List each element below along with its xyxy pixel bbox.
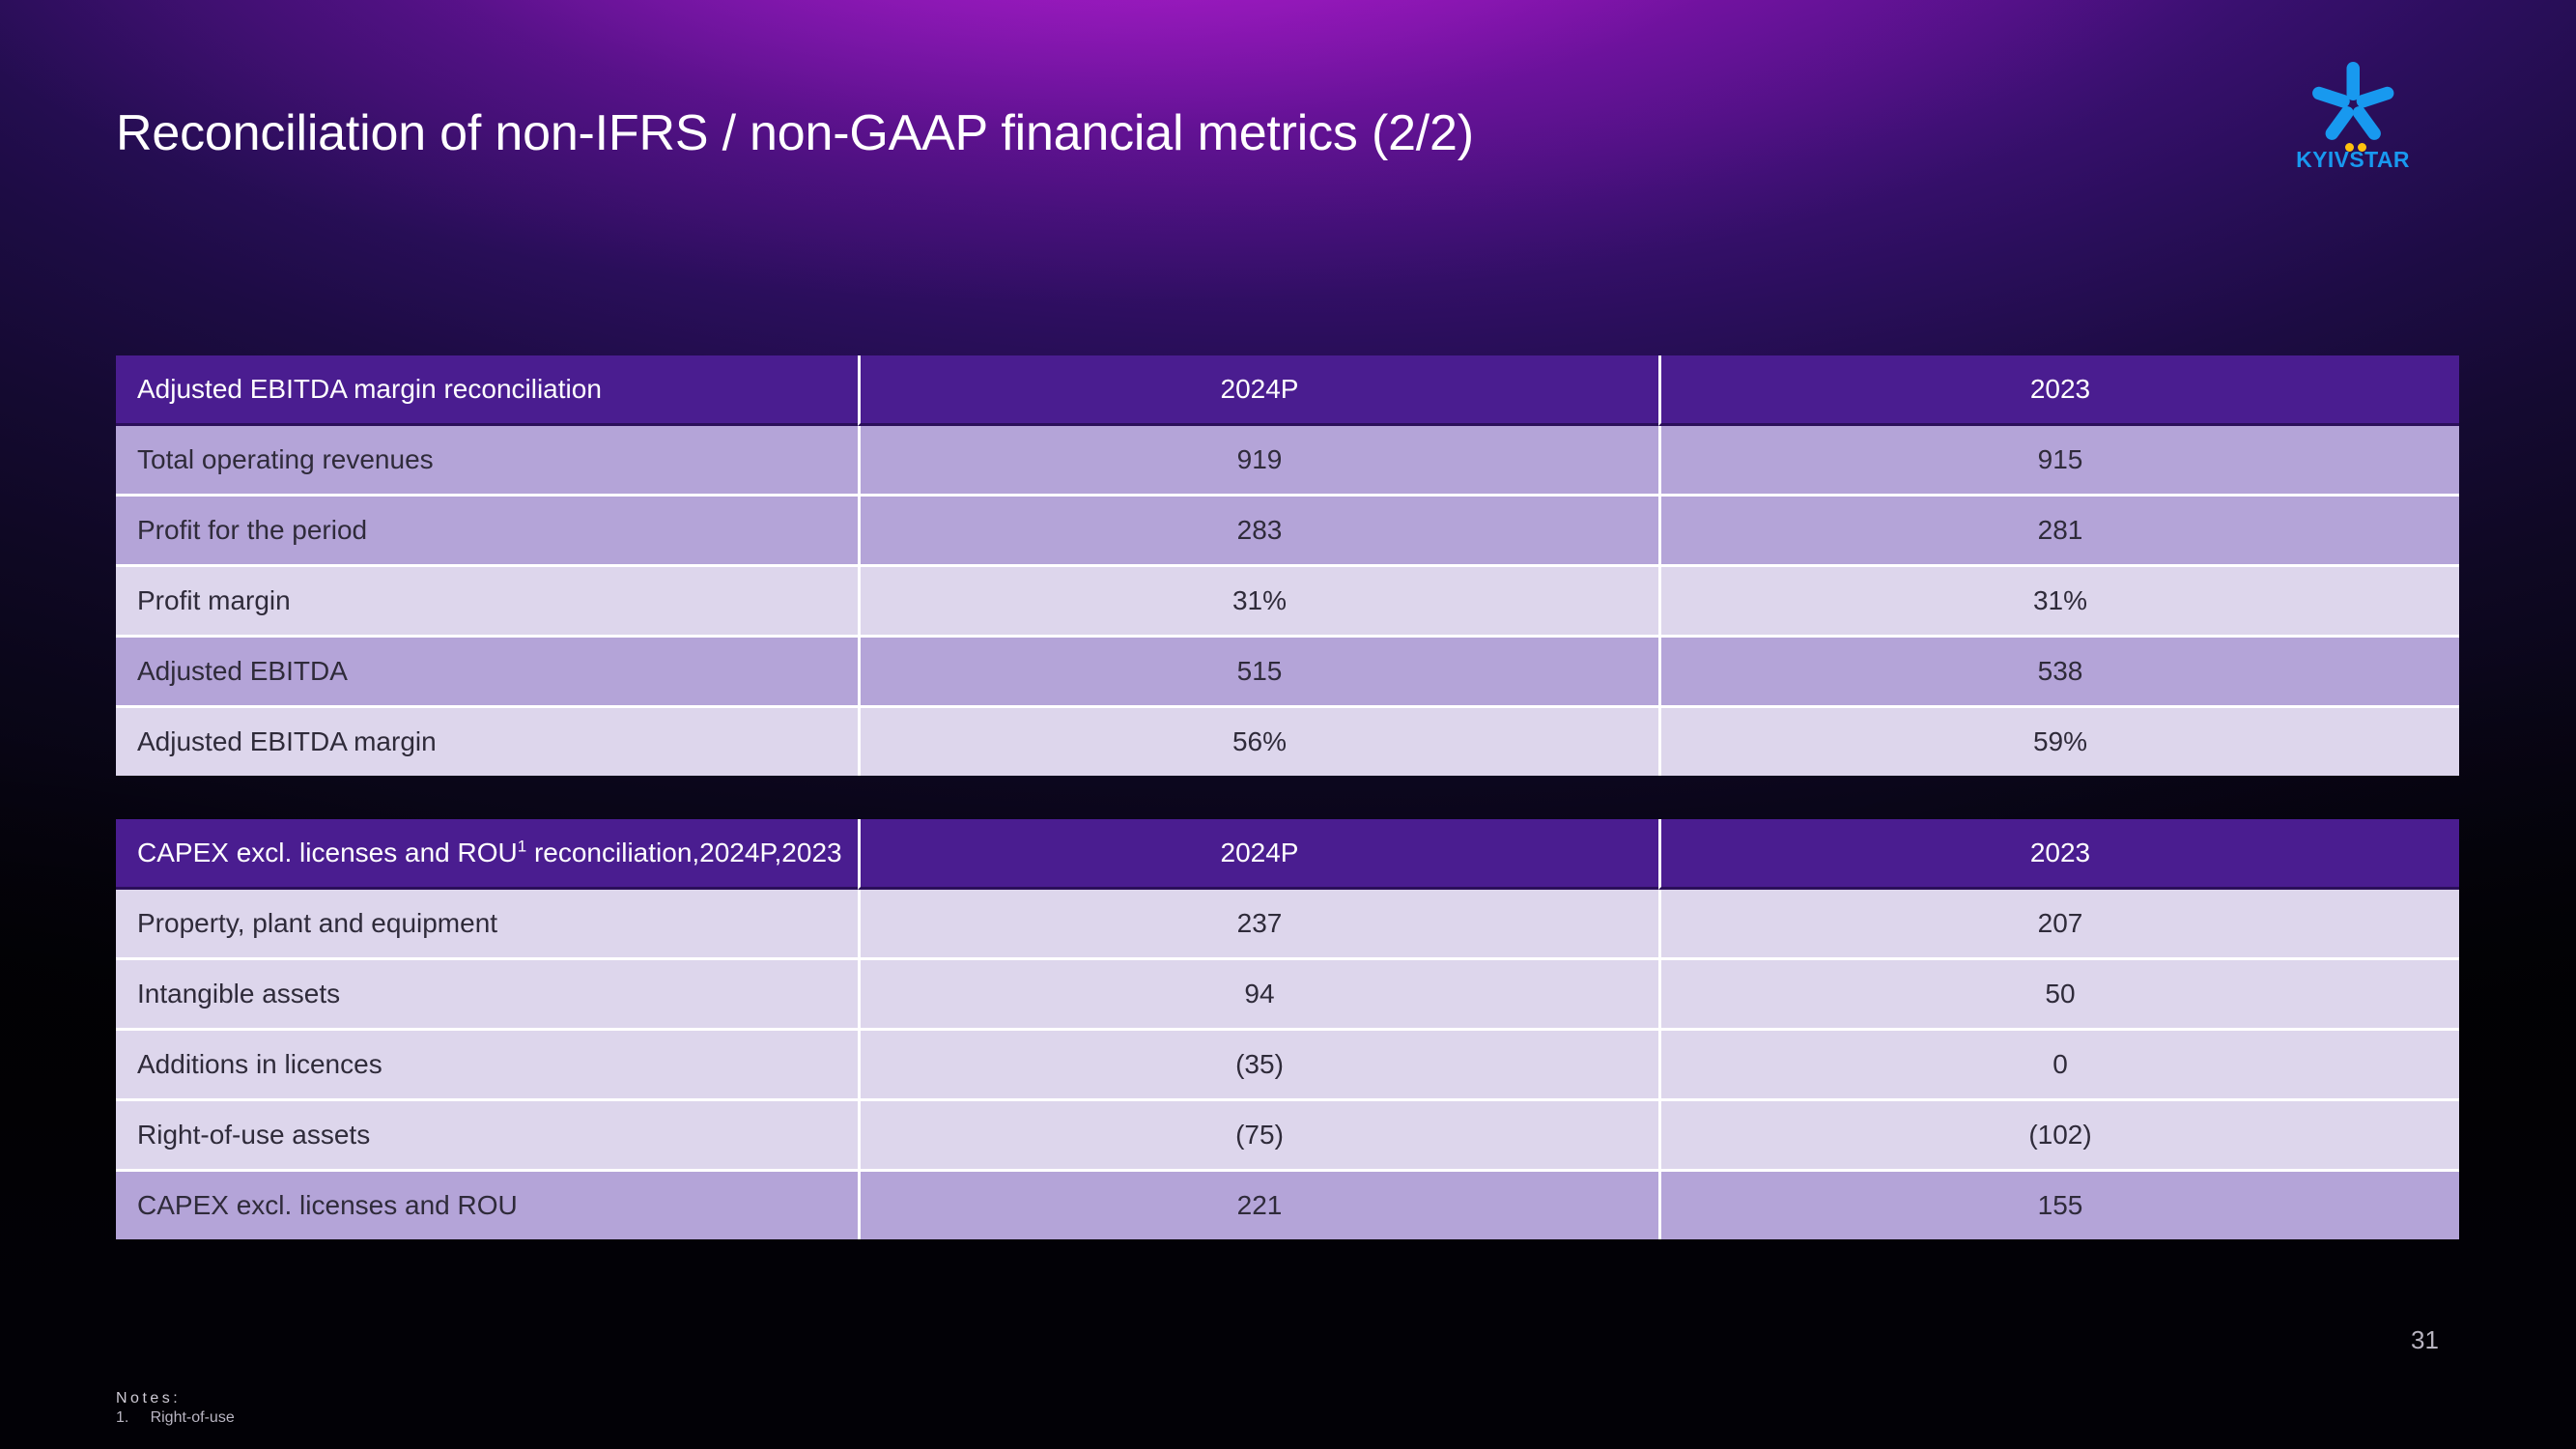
row-value-2023: (102) [1658, 1101, 2459, 1172]
table-row: Profit for the period 283 281 [116, 497, 2459, 567]
column-header-metric: CAPEX excl. licenses and ROU1 reconcilia… [116, 819, 858, 890]
table-header-row: Adjusted EBITDA margin reconciliation 20… [116, 355, 2459, 426]
table-row: CAPEX excl. licenses and ROU 221 155 [116, 1172, 2459, 1239]
row-value-2024p: (75) [858, 1101, 1658, 1172]
row-label: Adjusted EBITDA [116, 638, 858, 708]
notes-item-1: 1. Right-of-use [116, 1408, 235, 1428]
table-body: Property, plant and equipment 237 207 In… [116, 890, 2459, 1239]
column-header-2024p: 2024P [858, 355, 1658, 426]
row-value-2024p: (35) [858, 1031, 1658, 1101]
row-label: Additions in licences [116, 1031, 858, 1101]
kyivstar-logo: KYIVSTAR [2291, 60, 2415, 182]
row-value-2024p: 515 [858, 638, 1658, 708]
page-title: Reconciliation of non-IFRS / non-GAAP fi… [116, 104, 1474, 162]
row-label: Right-of-use assets [116, 1101, 858, 1172]
row-value-2023: 538 [1658, 638, 2459, 708]
notes-heading: Notes: [116, 1389, 235, 1408]
row-label: Profit for the period [116, 497, 858, 567]
slide-canvas: Reconciliation of non-IFRS / non-GAAP fi… [0, 0, 2576, 1449]
row-label: Property, plant and equipment [116, 890, 858, 960]
column-header-2024p: 2024P [858, 819, 1658, 890]
row-label: Profit margin [116, 567, 858, 638]
row-value-2023: 50 [1658, 960, 2459, 1031]
row-value-2023: 281 [1658, 497, 2459, 567]
row-value-2024p: 94 [858, 960, 1658, 1031]
column-header-2023: 2023 [1658, 819, 2459, 890]
table-row: Adjusted EBITDA margin 56% 59% [116, 708, 2459, 776]
row-value-2024p: 237 [858, 890, 1658, 960]
row-value-2024p: 283 [858, 497, 1658, 567]
table-row: Profit margin 31% 31% [116, 567, 2459, 638]
table-row: Adjusted EBITDA 515 538 [116, 638, 2459, 708]
column-header-2023: 2023 [1658, 355, 2459, 426]
table-header-row: CAPEX excl. licenses and ROU1 reconcilia… [116, 819, 2459, 890]
row-value-2023: 915 [1658, 426, 2459, 497]
row-label: Intangible assets [116, 960, 858, 1031]
row-value-2023: 0 [1658, 1031, 2459, 1101]
row-label: Adjusted EBITDA margin [116, 708, 858, 776]
table-row: Additions in licences (35) 0 [116, 1031, 2459, 1101]
table-row: Intangible assets 94 50 [116, 960, 2459, 1031]
column-header-metric: Adjusted EBITDA margin reconciliation [116, 355, 858, 426]
table-adjusted-ebitda-reconciliation: Adjusted EBITDA margin reconciliation 20… [116, 355, 2459, 776]
row-value-2023: 207 [1658, 890, 2459, 960]
row-label: Total operating revenues [116, 426, 858, 497]
row-value-2024p: 56% [858, 708, 1658, 776]
kyivstar-wordmark: KYIVSTAR [2291, 149, 2415, 171]
kyivstar-star-icon [2301, 60, 2405, 149]
table-body: Total operating revenues 919 915 Profit … [116, 426, 2459, 776]
row-label: CAPEX excl. licenses and ROU [116, 1172, 858, 1239]
notes-block: Notes: 1. Right-of-use [116, 1389, 235, 1429]
table-row: Right-of-use assets (75) (102) [116, 1101, 2459, 1172]
row-value-2024p: 919 [858, 426, 1658, 497]
row-value-2024p: 221 [858, 1172, 1658, 1239]
row-value-2023: 59% [1658, 708, 2459, 776]
row-value-2024p: 31% [858, 567, 1658, 638]
table-capex-reconciliation: CAPEX excl. licenses and ROU1 reconcilia… [116, 819, 2459, 1239]
table-row: Total operating revenues 919 915 [116, 426, 2459, 497]
table-row: Property, plant and equipment 237 207 [116, 890, 2459, 960]
row-value-2023: 155 [1658, 1172, 2459, 1239]
page-number: 31 [2411, 1325, 2439, 1355]
row-value-2023: 31% [1658, 567, 2459, 638]
